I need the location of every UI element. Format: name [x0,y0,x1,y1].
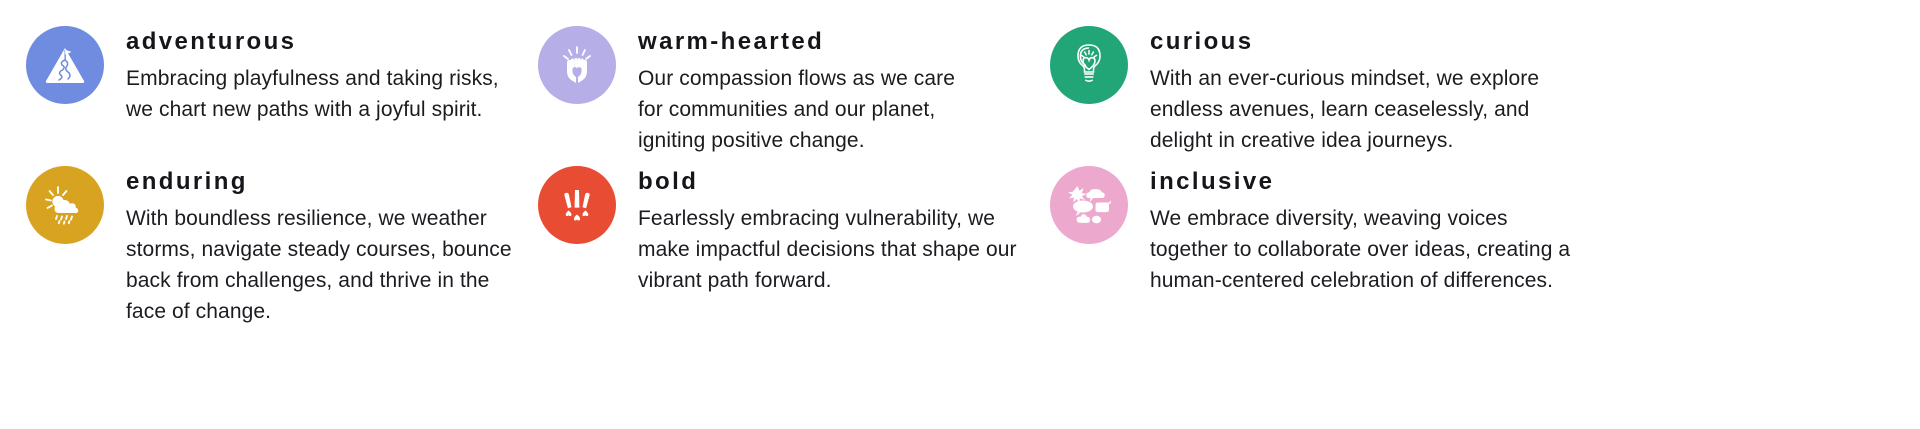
value-description: Embracing playfulness and taking risks, … [126,63,486,125]
desc-line: make impactful decisions that shape our [638,234,998,265]
desc-line: vibrant path forward. [638,265,998,296]
enduring-icon-badge [26,166,104,244]
desc-line: We embrace diversity, weaving voices [1150,203,1570,234]
curious-icon-badge [1050,26,1128,104]
desc-line: Fearlessly embracing vulnerability, we [638,203,998,234]
sun-rain-cloud-icon [41,183,89,227]
mountain-flag-icon [42,44,88,86]
value-title: warm-hearted [638,30,955,54]
speech-bubbles-icon [1063,181,1115,229]
value-description: Fearlessly embracing vulnerability, we m… [638,203,998,296]
warm-hearted-icon-badge [538,26,616,104]
desc-line: delight in creative idea journeys. [1150,125,1539,156]
desc-line: for communities and our planet, [638,94,955,125]
desc-line: Our compassion flows as we care [638,63,955,94]
value-title: inclusive [1150,170,1570,194]
value-description: We embrace diversity, weaving voices tog… [1150,203,1570,296]
value-title: adventurous [126,30,486,54]
value-title: enduring [126,170,486,194]
desc-line: storms, navigate steady courses, bounce [126,234,486,265]
desc-line: back from challenges, and thrive in the [126,265,486,296]
value-item-inclusive: inclusive We embrace diversity, weaving … [1050,162,1562,362]
values-grid: adventurous Embracing playfulness and ta… [0,0,1920,429]
desc-line: together to collaborate over ideas, crea… [1150,234,1570,265]
value-description: With boundless resilience, we weather st… [126,203,486,327]
desc-line: face of change. [126,296,486,327]
desc-line: With an ever-curious mindset, we explore [1150,63,1539,94]
curious-text: curious With an ever-curious mindset, we… [1150,22,1539,156]
value-item-enduring: enduring With boundless resilience, we w… [26,162,538,362]
value-item-bold: bold Fearlessly embracing vulnerability,… [538,162,1050,362]
desc-line: igniting positive change. [638,125,955,156]
desc-line: we chart new paths with a joyful spirit. [126,94,486,125]
desc-line: Embracing playfulness and taking risks, [126,63,486,94]
adventurous-text: adventurous Embracing playfulness and ta… [126,22,486,125]
value-description: With an ever-curious mindset, we explore… [1150,63,1539,156]
value-item-adventurous: adventurous Embracing playfulness and ta… [26,22,538,162]
warm-hearted-text: warm-hearted Our compassion flows as we … [638,22,955,156]
bold-icon-badge [538,166,616,244]
open-hands-heart-icon [554,42,600,88]
value-title: curious [1150,30,1539,54]
value-item-curious: curious With an ever-curious mindset, we… [1050,22,1562,162]
lightbulb-heart-icon [1066,41,1112,89]
value-description: Our compassion flows as we care for comm… [638,63,955,156]
desc-line: endless avenues, learn ceaselessly, and [1150,94,1539,125]
exclamation-marks-icon [555,183,599,227]
adventurous-icon-badge [26,26,104,104]
value-item-warm-hearted: warm-hearted Our compassion flows as we … [538,22,1050,162]
bold-text: bold Fearlessly embracing vulnerability,… [638,162,998,296]
inclusive-icon-badge [1050,166,1128,244]
value-title: bold [638,170,998,194]
desc-line: With boundless resilience, we weather [126,203,486,234]
inclusive-text: inclusive We embrace diversity, weaving … [1150,162,1570,296]
desc-line: human-centered celebration of difference… [1150,265,1570,296]
enduring-text: enduring With boundless resilience, we w… [126,162,486,327]
